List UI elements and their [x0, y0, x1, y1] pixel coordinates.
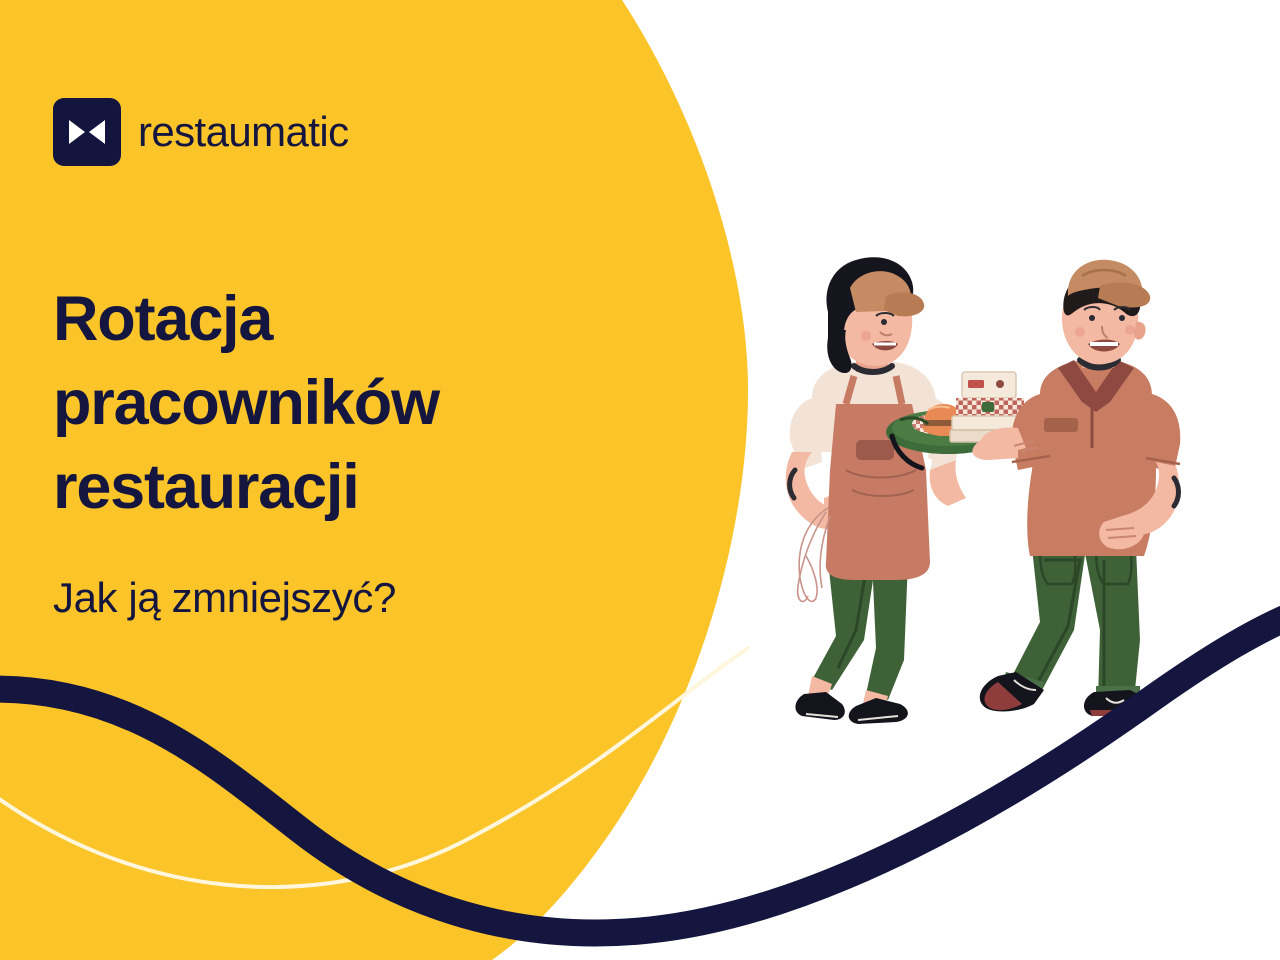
deliveryman-eye-left	[1089, 315, 1095, 321]
deliveryman-eye-right	[1119, 315, 1125, 321]
page-subtitle: Jak ją zmniejszyć?	[53, 573, 613, 623]
deliveryman-chest-badge	[1044, 418, 1078, 432]
delivery-man-with-boxes	[972, 260, 1180, 716]
brand-logo[interactable]: restaumatic	[53, 98, 348, 166]
navy-wave-line	[0, 612, 1280, 933]
bowtie-logo-icon	[53, 98, 121, 166]
hero-banner: restaumatic Rotacja pracowników restaura…	[0, 0, 1280, 960]
waitress-eye	[881, 319, 887, 325]
box-top-label	[968, 380, 984, 388]
deliveryman-blush-right	[1125, 325, 1135, 335]
waitress-apron-pocket	[856, 440, 894, 460]
waitress-blush	[861, 331, 871, 341]
box-green-tag	[982, 402, 994, 412]
waitress-shoe-right	[849, 698, 908, 724]
box-top-dot	[996, 380, 1004, 388]
waitress-with-tray	[786, 257, 967, 724]
deliveryman-blush-left	[1075, 327, 1085, 337]
deliveryman-ear	[1134, 322, 1146, 340]
brand-name: restaumatic	[138, 111, 348, 153]
hero-text-block: Rotacja pracowników restauracji Jak ją z…	[53, 278, 613, 624]
page-title: Rotacja pracowników restauracji	[53, 278, 613, 529]
